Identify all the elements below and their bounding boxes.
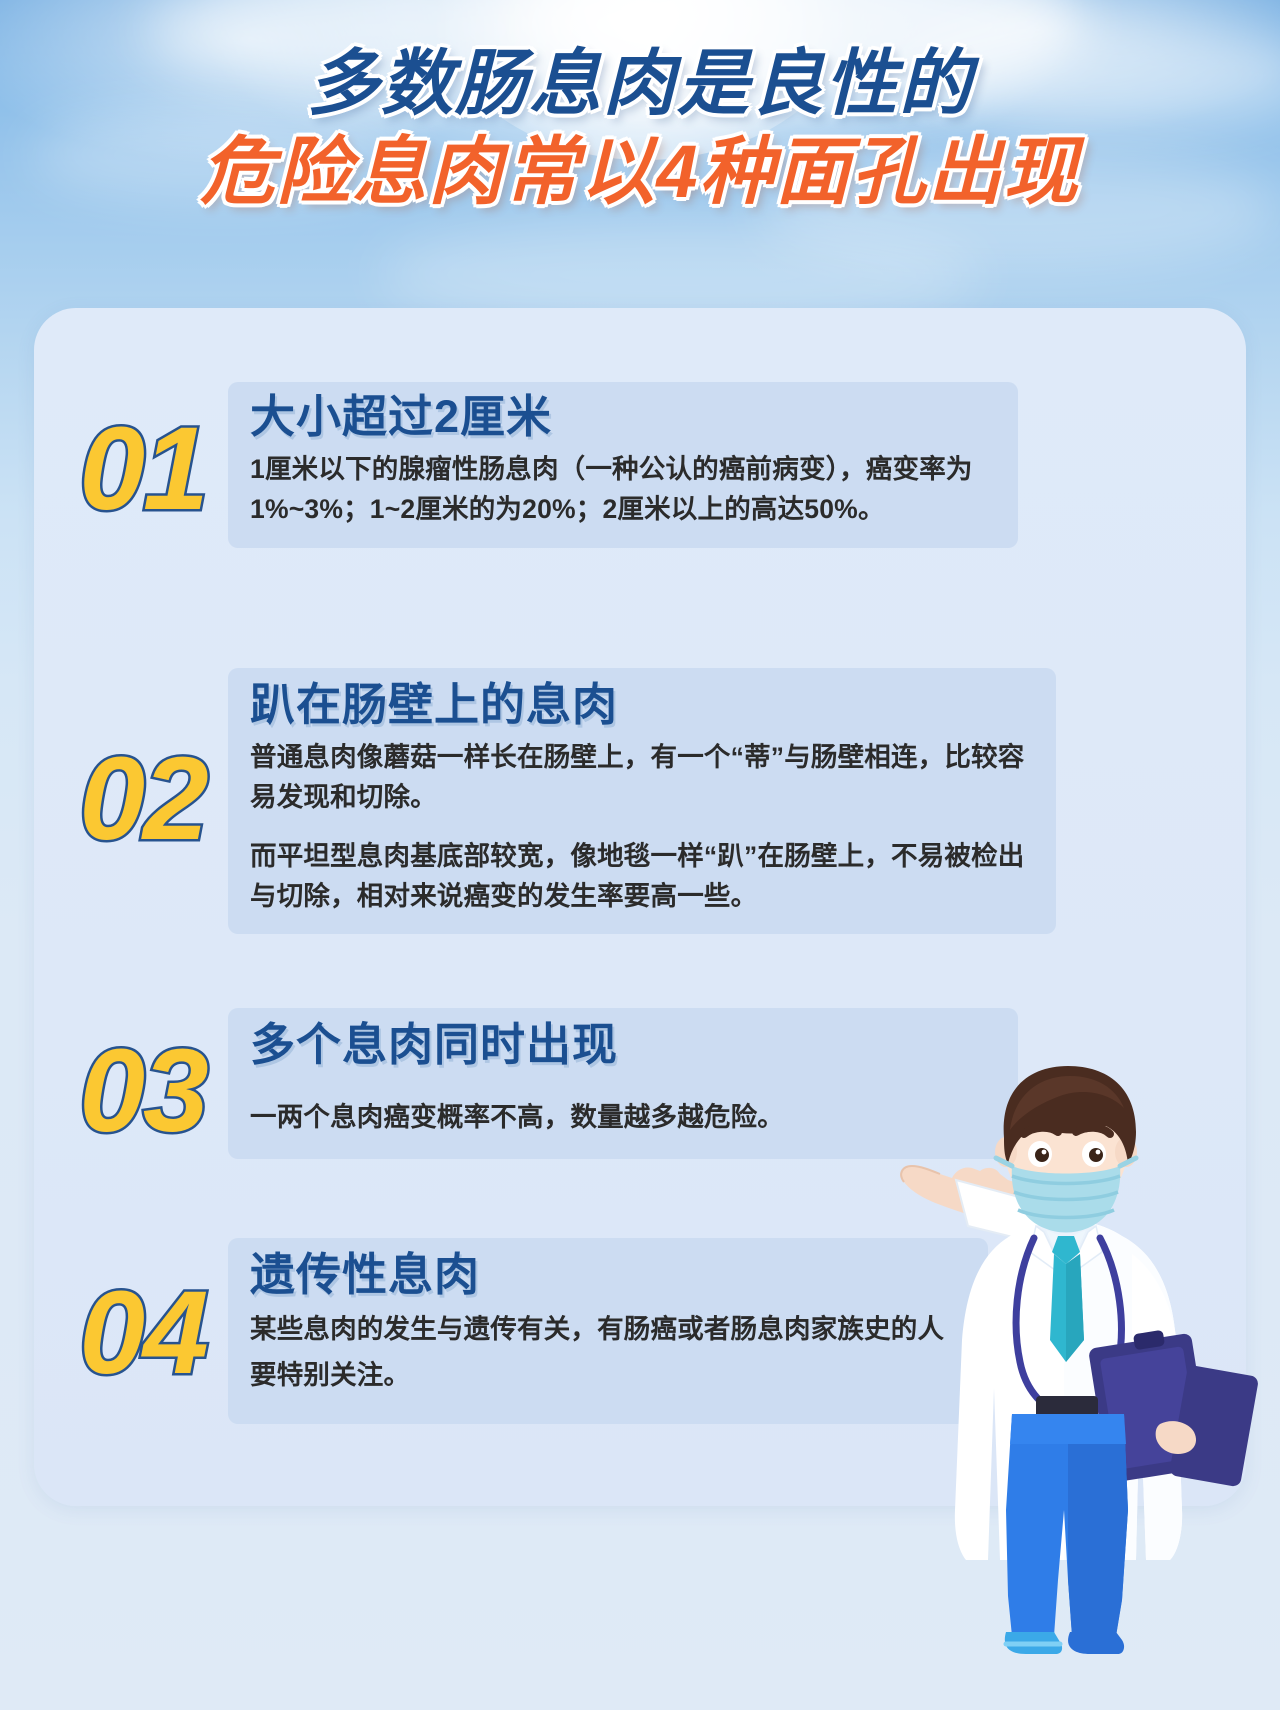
title-line-secondary: 危险息肉常以4种面孔出现 xyxy=(0,132,1280,212)
item-number-badge: 04 xyxy=(58,1238,228,1392)
item-number-badge: 03 xyxy=(58,1008,228,1150)
item-paragraph: 普通息肉像蘑菇一样长在肠壁上，有一个“蒂”与肠壁相连，比较容易发现和切除。 xyxy=(250,737,1034,818)
list-item: 01 大小超过2厘米 1厘米以下的腺瘤性肠息肉（一种公认的癌前病变），癌变率为1… xyxy=(58,382,1098,548)
list-item: 04 遗传性息肉 某些息肉的发生与遗传有关，有肠癌或者肠息肉家族史的人要特别关注… xyxy=(58,1238,1058,1424)
item-body: 趴在肠壁上的息肉 普通息肉像蘑菇一样长在肠壁上，有一个“蒂”与肠壁相连，比较容易… xyxy=(228,668,1098,934)
item-heading: 多个息肉同时出现 xyxy=(250,1018,996,1071)
poster-canvas: 多数肠息肉是良性的 危险息肉常以4种面孔出现 01 大小超过2厘米 1厘米以下的… xyxy=(0,0,1280,1710)
item-heading: 大小超过2厘米 xyxy=(250,390,996,443)
item-body: 大小超过2厘米 1厘米以下的腺瘤性肠息肉（一种公认的癌前病变），癌变率为1%~3… xyxy=(228,382,1098,548)
item-paragraph: 一两个息肉癌变概率不高，数量越多越危险。 xyxy=(250,1097,996,1137)
item-card: 大小超过2厘米 1厘米以下的腺瘤性肠息肉（一种公认的癌前病变），癌变率为1%~3… xyxy=(228,382,1018,548)
item-body: 遗传性息肉 某些息肉的发生与遗传有关，有肠癌或者肠息肉家族史的人要特别关注。 xyxy=(228,1238,1058,1424)
doctor-shoes xyxy=(1005,1632,1124,1654)
item-paragraph: 某些息肉的发生与遗传有关，有肠癌或者肠息肉家族史的人要特别关注。 xyxy=(250,1307,966,1398)
item-paragraph: 1厘米以下的腺瘤性肠息肉（一种公认的癌前病变），癌变率为1%~3%；1~2厘米的… xyxy=(250,449,996,530)
item-paragraph: 而平坦型息肉基底部较宽，像地毯一样“趴”在肠壁上，不易被检出与切除，相对来说癌变… xyxy=(250,836,1034,917)
item-number-badge: 01 xyxy=(58,382,228,528)
item-heading: 遗传性息肉 xyxy=(250,1248,966,1301)
item-card: 多个息肉同时出现 一两个息肉癌变概率不高，数量越多越危险。 xyxy=(228,1008,1018,1159)
poster-title: 多数肠息肉是良性的 危险息肉常以4种面孔出现 xyxy=(0,46,1280,212)
item-number-badge: 02 xyxy=(58,668,228,858)
list-item: 03 多个息肉同时出现 一两个息肉癌变概率不高，数量越多越危险。 xyxy=(58,1008,1098,1159)
item-body: 多个息肉同时出现 一两个息肉癌变概率不高，数量越多越危险。 xyxy=(228,1008,1098,1159)
item-card: 遗传性息肉 某些息肉的发生与遗传有关，有肠癌或者肠息肉家族史的人要特别关注。 xyxy=(228,1238,988,1424)
item-card: 趴在肠壁上的息肉 普通息肉像蘑菇一样长在肠壁上，有一个“蒂”与肠壁相连，比较容易… xyxy=(228,668,1056,934)
title-line-primary: 多数肠息肉是良性的 xyxy=(0,46,1280,124)
list-item: 02 趴在肠壁上的息肉 普通息肉像蘑菇一样长在肠壁上，有一个“蒂”与肠壁相连，比… xyxy=(58,668,1098,934)
item-heading: 趴在肠壁上的息肉 xyxy=(250,678,1034,731)
